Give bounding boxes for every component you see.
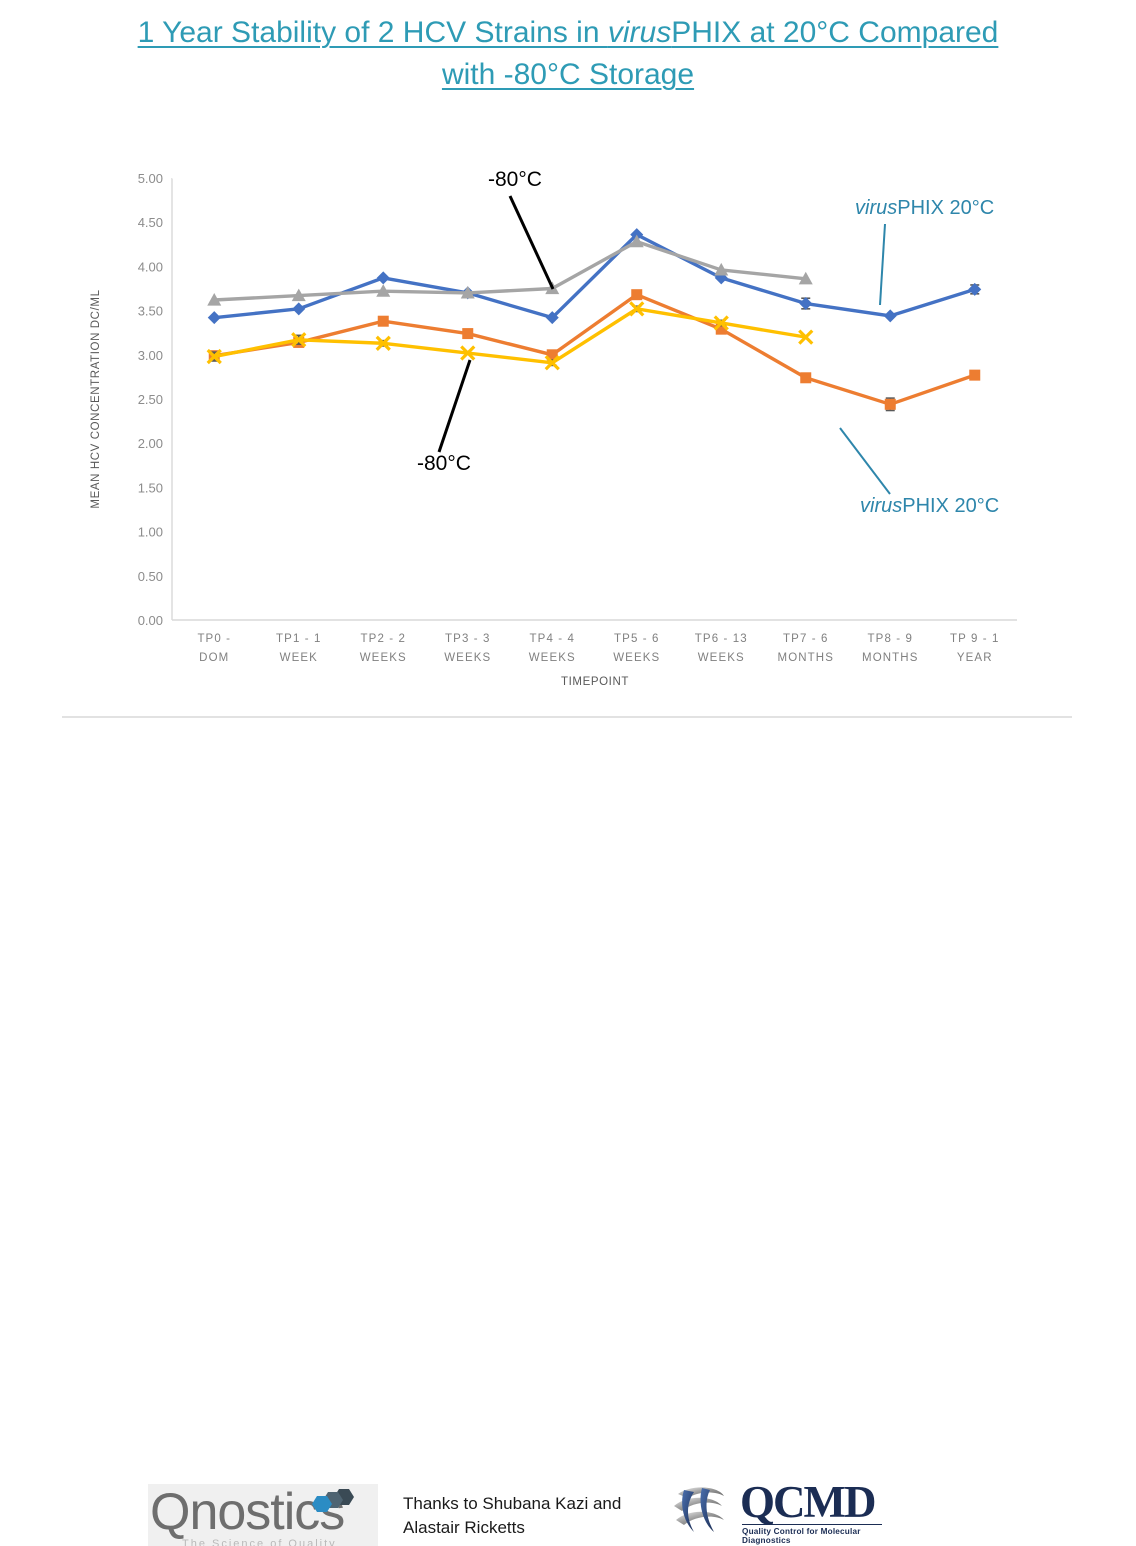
data-point-marker: [462, 328, 473, 339]
y-tick-label: 5.00: [138, 171, 163, 186]
annotation-leader-line: [510, 196, 553, 289]
y-tick-label: 4.00: [138, 259, 163, 274]
anno-minus80-yellow: -80°C: [417, 360, 471, 475]
y-tick-label: 3.00: [138, 348, 163, 363]
x-tick-label: TP 9 - 1YEAR: [950, 633, 1000, 664]
x-tick-label: TP0 -DOM: [197, 633, 231, 664]
title-line1-italic: virus: [608, 16, 671, 49]
data-point-marker: [800, 372, 811, 383]
footer-divider: [62, 716, 1072, 718]
y-axis-title: MEAN HCV CONCENTRATION DC/ML: [90, 289, 102, 508]
annotation-label: virusPHIX 20°C: [855, 197, 994, 219]
data-point-marker: [884, 309, 897, 322]
chart-series-group: [207, 228, 981, 410]
x-axis-title: TIMEPOINT: [561, 676, 629, 688]
data-point-marker: [378, 316, 389, 327]
y-tick-label: 0.00: [138, 613, 163, 628]
anno-minus80-gray: -80°C: [488, 168, 553, 289]
x-tick-label: TP1 - 1WEEK: [276, 633, 321, 664]
data-point-marker: [292, 302, 305, 315]
qnostics-tagline: The Science of Quality: [182, 1538, 337, 1546]
data-point-marker: [969, 370, 980, 381]
y-axis-ticks: 0.000.501.001.502.002.503.003.504.004.50…: [138, 171, 163, 628]
y-tick-label: 3.50: [138, 304, 163, 319]
data-point-marker: [377, 271, 390, 284]
line-chart: 0.000.501.001.502.002.503.003.504.004.50…: [75, 150, 1035, 700]
chart-series: [207, 235, 813, 306]
chart-container: 0.000.501.001.502.002.503.003.504.004.50…: [75, 150, 1035, 700]
title-line2: with -80°C Storage: [442, 58, 694, 91]
qnostics-hexagon-icon: [308, 1488, 356, 1514]
qcmd-logo: QCMD Quality Control for Molecular Diagn…: [668, 1482, 883, 1540]
annotation-label: -80°C: [417, 452, 471, 475]
x-axis-ticks: TP0 -DOMTP1 - 1WEEKTP2 - 2WEEKSTP3 - 3WE…: [197, 633, 999, 664]
data-point-marker: [968, 283, 981, 296]
data-point-marker: [208, 311, 221, 324]
thanks-text: Thanks to Shubana Kazi and Alastair Rick…: [403, 1492, 653, 1540]
data-point-marker: [885, 399, 896, 410]
chart-series: [208, 228, 982, 324]
x-tick-label: TP3 - 3WEEKS: [444, 633, 491, 664]
y-tick-label: 1.00: [138, 525, 163, 540]
qcmd-swirl-icon: [668, 1482, 734, 1538]
x-tick-label: TP6 - 13WEEKS: [695, 633, 748, 664]
footer: Qnostics The Science of Quality Thanks t…: [0, 732, 1136, 832]
y-tick-label: 1.50: [138, 480, 163, 495]
chart-series: [209, 289, 981, 410]
y-tick-label: 2.00: [138, 436, 163, 451]
y-tick-label: 4.50: [138, 215, 163, 230]
x-tick-label: TP7 - 6MONTHS: [778, 633, 834, 664]
data-point-marker: [631, 289, 642, 300]
annotation-leader-line: [840, 428, 890, 494]
qcmd-tagline: Quality Control for Molecular Diagnostic…: [742, 1524, 882, 1545]
x-tick-label: TP8 - 9MONTHS: [862, 633, 918, 664]
y-tick-label: 0.50: [138, 569, 163, 584]
qcmd-wordmark: QCMD: [740, 1476, 874, 1528]
annotation-label: -80°C: [488, 168, 542, 191]
x-tick-label: TP5 - 6WEEKS: [613, 633, 660, 664]
x-tick-label: TP2 - 2WEEKS: [360, 633, 407, 664]
y-tick-label: 2.50: [138, 392, 163, 407]
data-point-marker: [799, 297, 812, 310]
annotation-label: virusPHIX 20°C: [860, 495, 999, 517]
x-tick-label: TP4 - 4WEEKS: [529, 633, 576, 664]
annotation-leader-line: [439, 360, 470, 452]
qnostics-logo: Qnostics The Science of Quality: [148, 1484, 378, 1546]
page-title: 1 Year Stability of 2 HCV Strains in vir…: [40, 12, 1096, 96]
title-line1-part-b: PHIX at 20°C Compared: [671, 16, 998, 49]
series-line: [214, 235, 975, 318]
annotation-leader-line: [880, 224, 885, 305]
title-line1-part-a: 1 Year Stability of 2 HCV Strains in: [138, 16, 608, 49]
anno-virusphix-orange: virusPHIX 20°C: [840, 428, 999, 517]
